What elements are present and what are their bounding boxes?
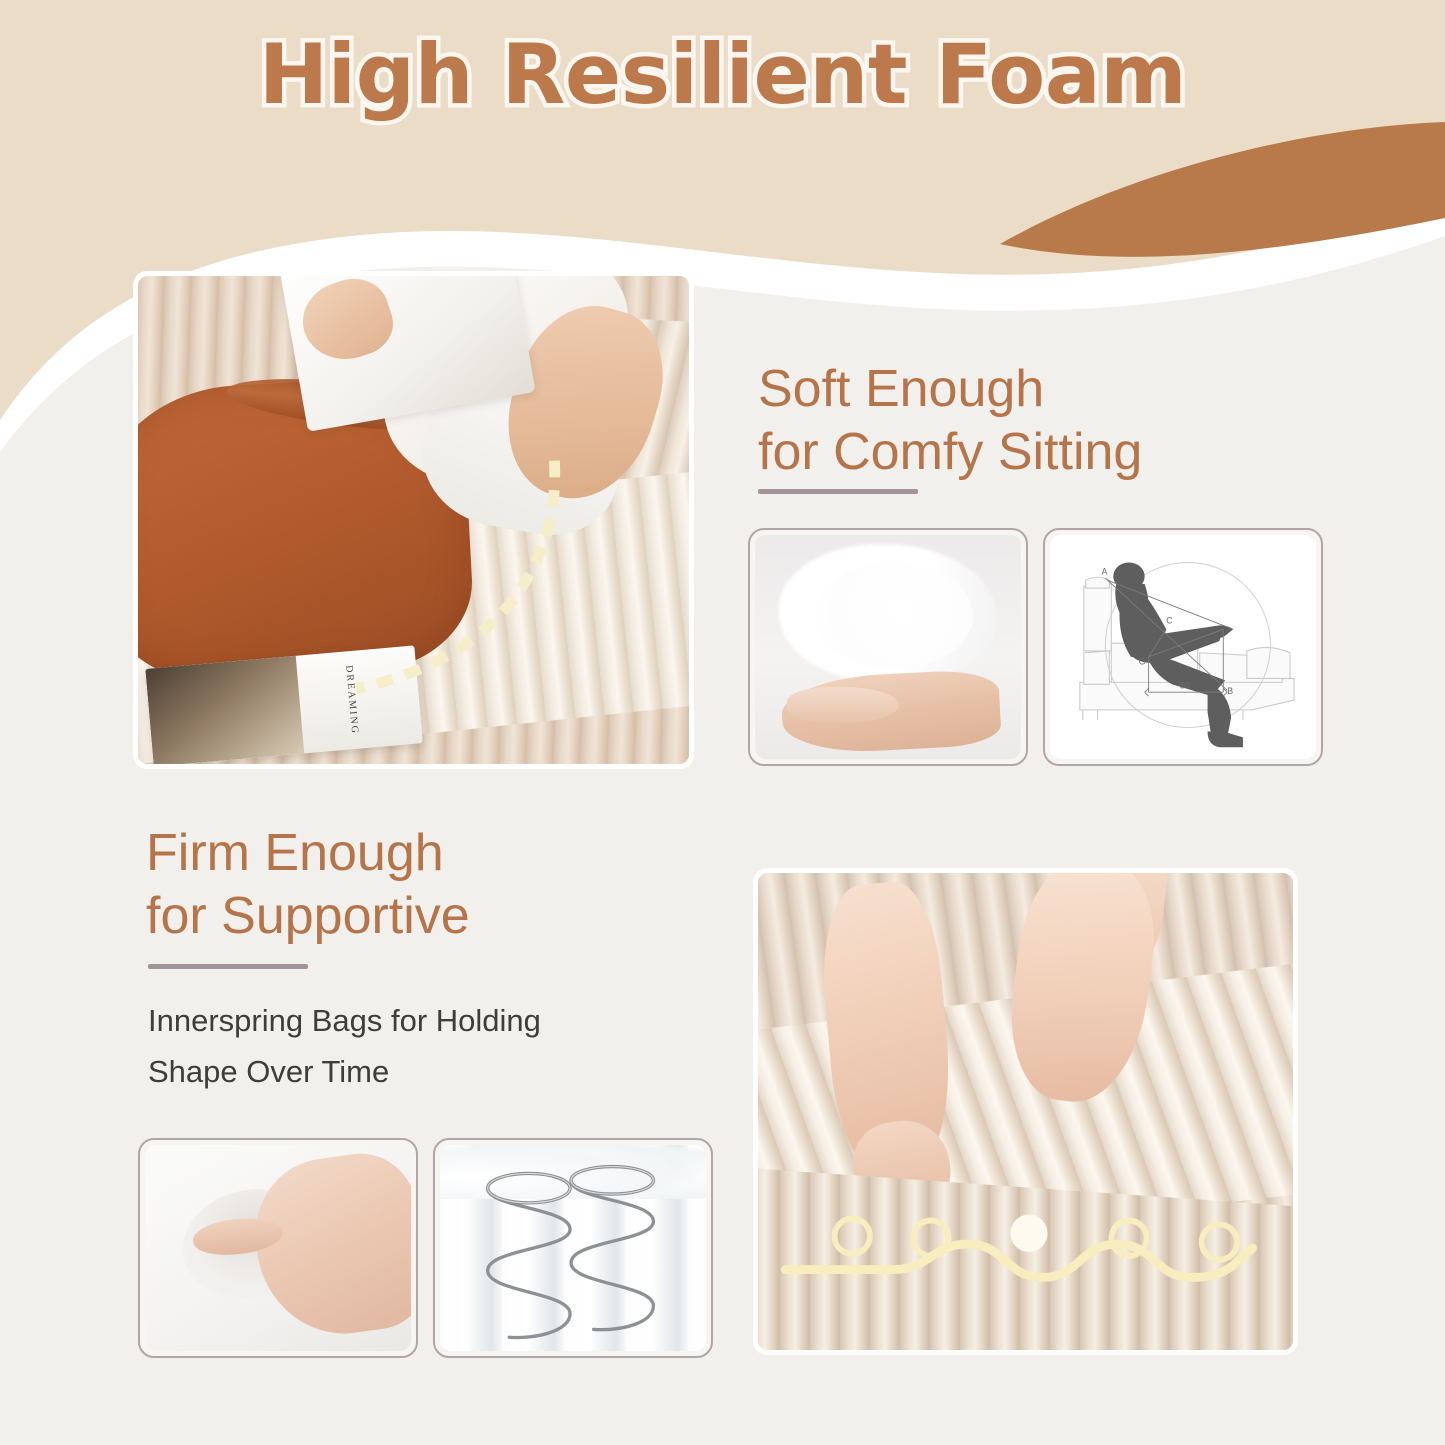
ergonomics-photo-inner: A B C O 50	[1050, 535, 1316, 759]
soft-heading-rule	[758, 489, 918, 494]
coils-photo-inner	[440, 1145, 706, 1351]
firm-section-body: Innerspring Bags for Holding Shape Over …	[148, 995, 748, 1097]
ergo-label-o: O	[1139, 657, 1146, 667]
main-photo-inner: DREAMING	[138, 276, 689, 764]
ergonomics-diagram-svg: A B C O 50	[1050, 535, 1316, 759]
soft-heading-line-2: for Comfy Sitting	[758, 421, 1398, 484]
fiberfill-cloud-highlight	[814, 562, 974, 670]
firm-body-line-1: Innerspring Bags for Holding	[148, 995, 748, 1046]
holding-hand-fingers	[787, 687, 899, 723]
firm-section-heading: Firm Enough for Supportive	[146, 822, 766, 949]
soft-section-heading: Soft Enough for Comfy Sitting	[758, 358, 1398, 485]
product-infographic-poster: High Resilient Foam DREAMING Soft Enough	[0, 0, 1445, 1445]
fiberfill-photo-inner	[755, 535, 1021, 759]
page-title: High Resilient Foam	[259, 26, 1187, 123]
ergo-label-a: A	[1101, 566, 1107, 576]
soft-heading-line-1: Soft Enough	[758, 358, 1398, 421]
feet-photo-inner	[758, 873, 1293, 1350]
resilience-wave-overlay	[758, 873, 1293, 1350]
ergo-label-dimension: 50	[1180, 680, 1190, 690]
feet-on-cushion-photo	[753, 868, 1298, 1355]
spring-coils-svg	[440, 1145, 706, 1351]
firm-body-line-2: Shape Over Time	[148, 1046, 748, 1097]
thumbnail-innerspring-coils	[433, 1138, 713, 1358]
ergo-label-c: C	[1166, 615, 1173, 625]
thumbnail-seated-ergonomics-diagram: A B C O 50	[1043, 528, 1323, 766]
press-photo-inner	[145, 1145, 411, 1351]
main-lifestyle-photo: DREAMING	[133, 271, 694, 769]
firm-heading-line-2: for Supportive	[146, 885, 766, 948]
ergo-label-b: B	[1227, 686, 1233, 696]
firm-heading-line-1: Firm Enough	[146, 822, 766, 885]
poster-title-container: High Resilient Foam	[0, 26, 1445, 123]
firm-heading-rule	[148, 964, 308, 969]
thumbnail-hand-pressing-foam	[138, 1138, 418, 1358]
dashed-support-curve-overlay	[138, 276, 689, 764]
thumbnail-fiberfill-in-hand	[748, 528, 1028, 766]
